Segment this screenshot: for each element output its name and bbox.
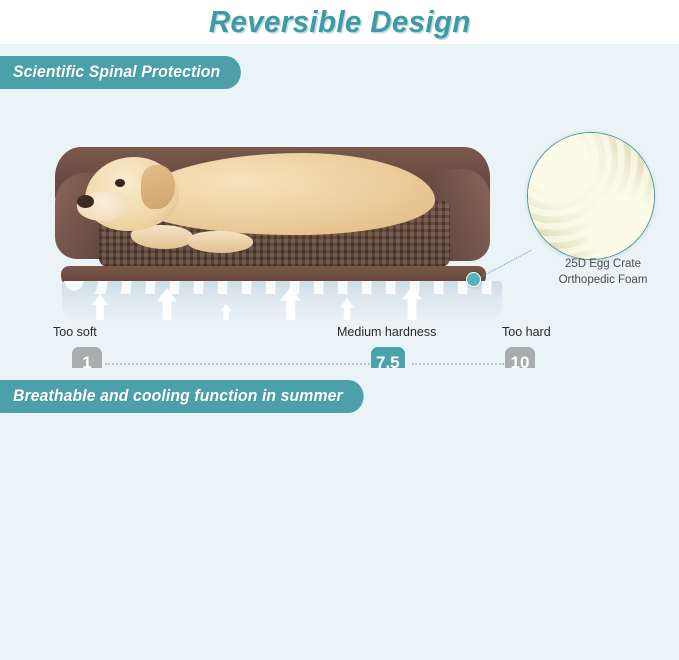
- photo-golden-retriever-on-bed: [55, 139, 490, 284]
- section-banner-spinal: Scientific Spinal Protection: [0, 56, 241, 89]
- support-arrow: [92, 294, 108, 320]
- section-breathable-cooling: Breathable and cooling function in summe…: [0, 368, 679, 660]
- hardness-label-too-hard: Too hard: [502, 325, 551, 339]
- section-spinal-protection: Scientific Spinal Protection 25D Egg Cra…: [0, 44, 679, 368]
- dog-paw: [187, 231, 253, 253]
- page-header: Reversible Design: [0, 0, 679, 44]
- foam-callout-line2: Orthopedic Foam: [528, 273, 678, 289]
- foam-detail-circle-eggcrate: [527, 132, 655, 260]
- support-arrow: [280, 287, 301, 320]
- hardness-label-medium: Medium hardness: [337, 325, 436, 339]
- hardness-label-too-soft: Too soft: [53, 325, 97, 339]
- foam-callout-line1: 25D Egg Crate: [528, 257, 678, 273]
- foam-callout-label-top: 25D Egg Crate Orthopedic Foam: [528, 257, 678, 288]
- section-banner-cooling: Breathable and cooling function in summe…: [0, 380, 363, 413]
- scale-badge-1[interactable]: 1: [72, 347, 102, 368]
- support-arrow: [157, 288, 177, 320]
- hardness-numeric-scale: 1 7.5 10: [0, 347, 679, 368]
- scale-dotted-segment: [105, 363, 370, 365]
- support-arrow: [402, 286, 422, 320]
- hardness-gradient-bar: [62, 281, 502, 321]
- scale-dotted-segment: [412, 363, 504, 365]
- support-arrow: [340, 298, 354, 320]
- support-arrow: [220, 304, 232, 320]
- foam-marker-dot[interactable]: [466, 272, 481, 287]
- eggcrate-foam-texture: [528, 133, 654, 259]
- dog-nose: [77, 195, 94, 208]
- dog-eye: [115, 179, 125, 187]
- scale-badge-7-5[interactable]: 7.5: [371, 347, 405, 368]
- scale-badge-10[interactable]: 10: [505, 347, 535, 368]
- page-title: Reversible Design: [209, 4, 471, 40]
